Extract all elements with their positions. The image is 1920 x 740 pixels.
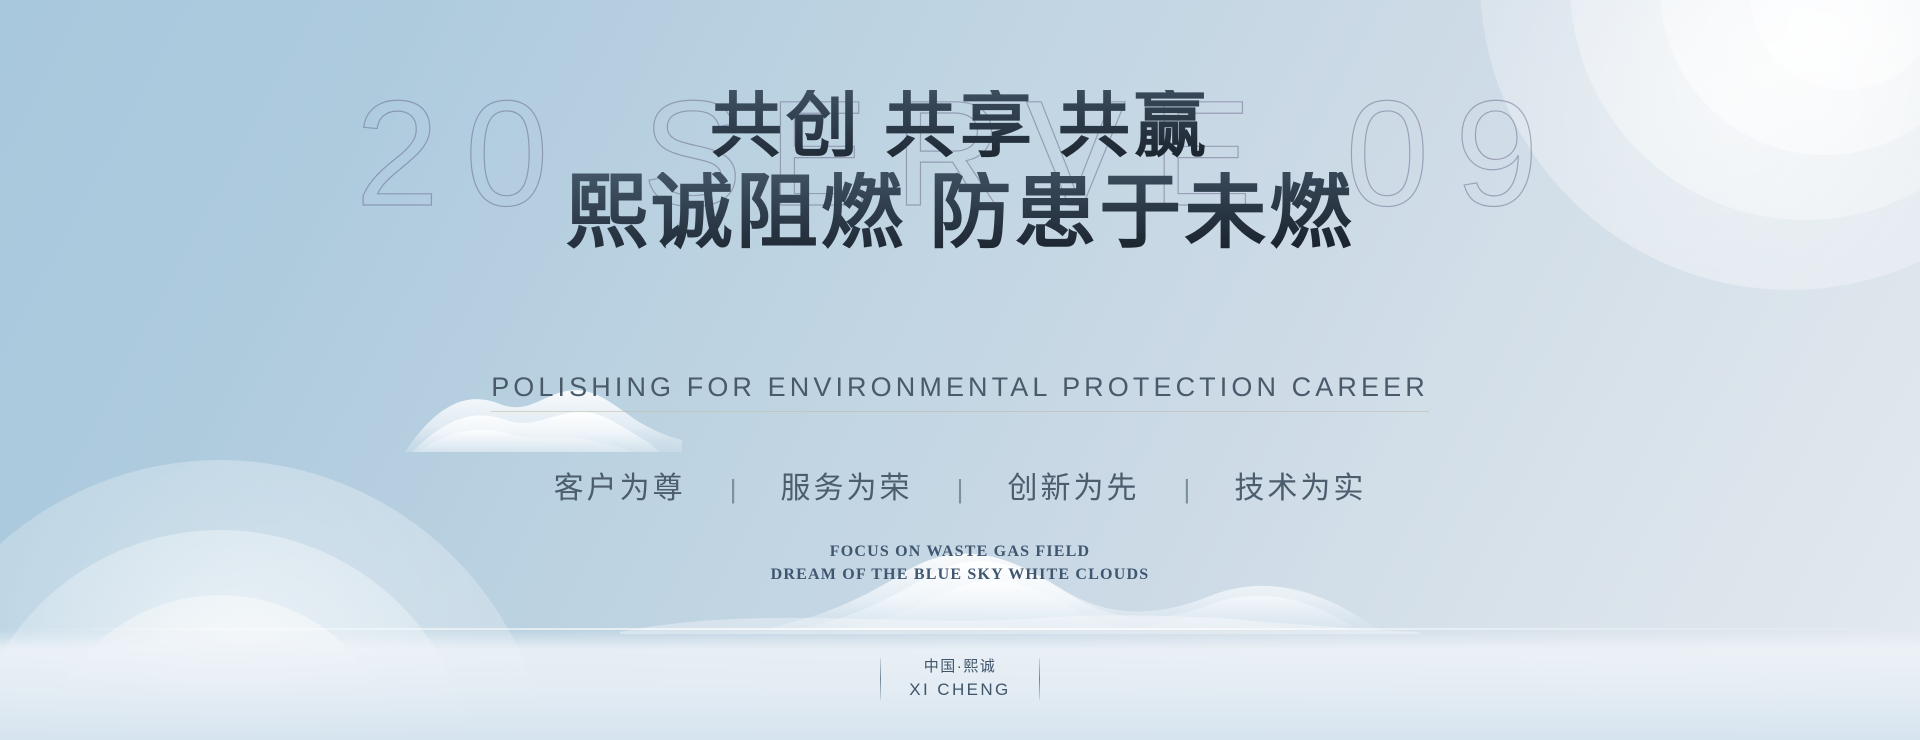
headline-block: 共创 共享 共赢 熙诚阻燃 防患于未燃 xyxy=(0,90,1920,254)
logo-text-group: 中国·熙诚 XI CHENG xyxy=(909,656,1010,702)
value-separator-3: | xyxy=(1144,474,1230,505)
small-english-block: FOCUS ON WASTE GAS FIELD DREAM OF THE BL… xyxy=(0,541,1920,586)
value-word-4: 技术为实 xyxy=(1234,463,1366,507)
value-words-row: 客户为尊 | 服务为荣 | 创新为先 | 技术为实 xyxy=(0,463,1920,507)
logo-divider-left xyxy=(880,658,881,700)
headline-line-2: 熙诚阻燃 防患于未燃 xyxy=(0,172,1920,254)
english-tagline: POLISHING FOR ENVIRONMENTAL PROTECTION C… xyxy=(491,372,1429,412)
value-word-1: 客户为尊 xyxy=(554,463,686,507)
value-separator-1: | xyxy=(690,474,776,505)
small-english-line-2: DREAM OF THE BLUE SKY WHITE CLOUDS xyxy=(0,564,1920,587)
logo-english-name: XI CHENG xyxy=(909,678,1010,702)
value-separator-2: | xyxy=(917,474,1003,505)
promotional-banner: 20 SERVE 09 xyxy=(0,0,1920,740)
ring-decoration-top-right-core xyxy=(1750,0,1920,90)
logo-divider-right xyxy=(1039,658,1040,700)
small-english-line-1: FOCUS ON WASTE GAS FIELD xyxy=(0,541,1920,564)
headline-line-1: 共创 共享 共赢 xyxy=(0,90,1920,162)
tagline-wrap: POLISHING FOR ENVIRONMENTAL PROTECTION C… xyxy=(0,372,1920,412)
logo-chinese-name: 中国·熙诚 xyxy=(909,656,1010,679)
value-word-2: 服务为荣 xyxy=(781,463,913,507)
horizon-line xyxy=(0,628,1920,630)
brand-logo-lockup: 中国·熙诚 XI CHENG xyxy=(0,656,1920,702)
value-word-3: 创新为先 xyxy=(1007,463,1139,507)
